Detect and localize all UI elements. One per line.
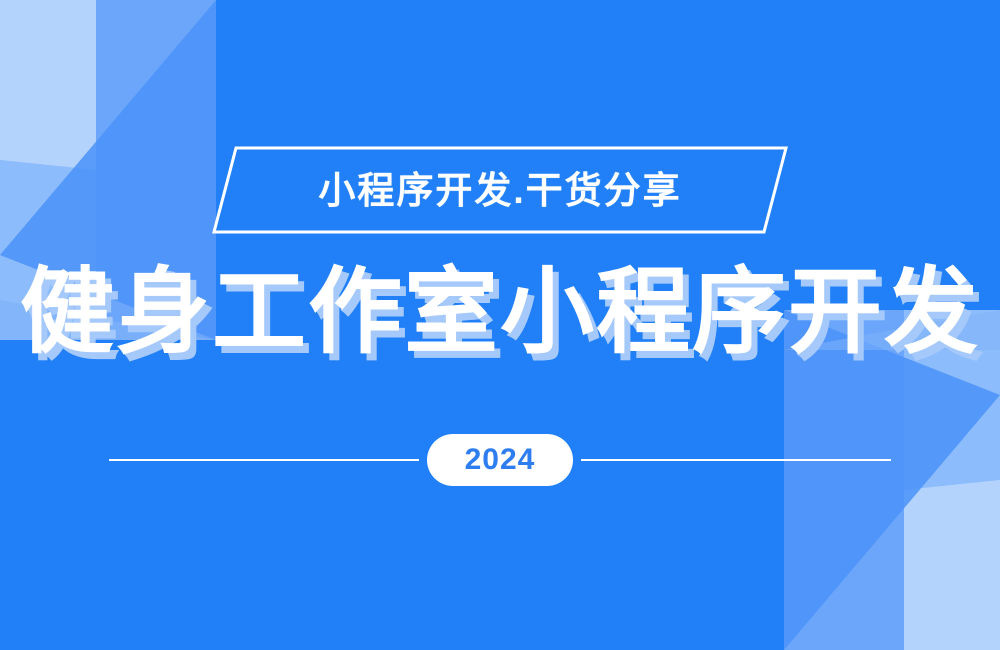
divider-line-left (109, 459, 419, 461)
subtitle-text: 小程序开发.干货分享 (210, 144, 790, 236)
title-stack: 健身工作室小程序开发 健身工作室小程序开发 (20, 252, 980, 372)
deco-shape-left-wedge-upper (0, 0, 96, 170)
year-badge: 2024 (427, 434, 573, 486)
divider-line-right (581, 459, 891, 461)
year-row: 2024 (0, 434, 1000, 486)
deco-shape-right-wedge-lower (904, 480, 1000, 650)
title-block: 健身工作室小程序开发 健身工作室小程序开发 (0, 252, 1000, 372)
promo-banner: 小程序开发.干货分享 健身工作室小程序开发 健身工作室小程序开发 2024 (0, 0, 1000, 650)
page-title: 健身工作室小程序开发 (20, 252, 980, 372)
subtitle-banner: 小程序开发.干货分享 (210, 144, 790, 236)
